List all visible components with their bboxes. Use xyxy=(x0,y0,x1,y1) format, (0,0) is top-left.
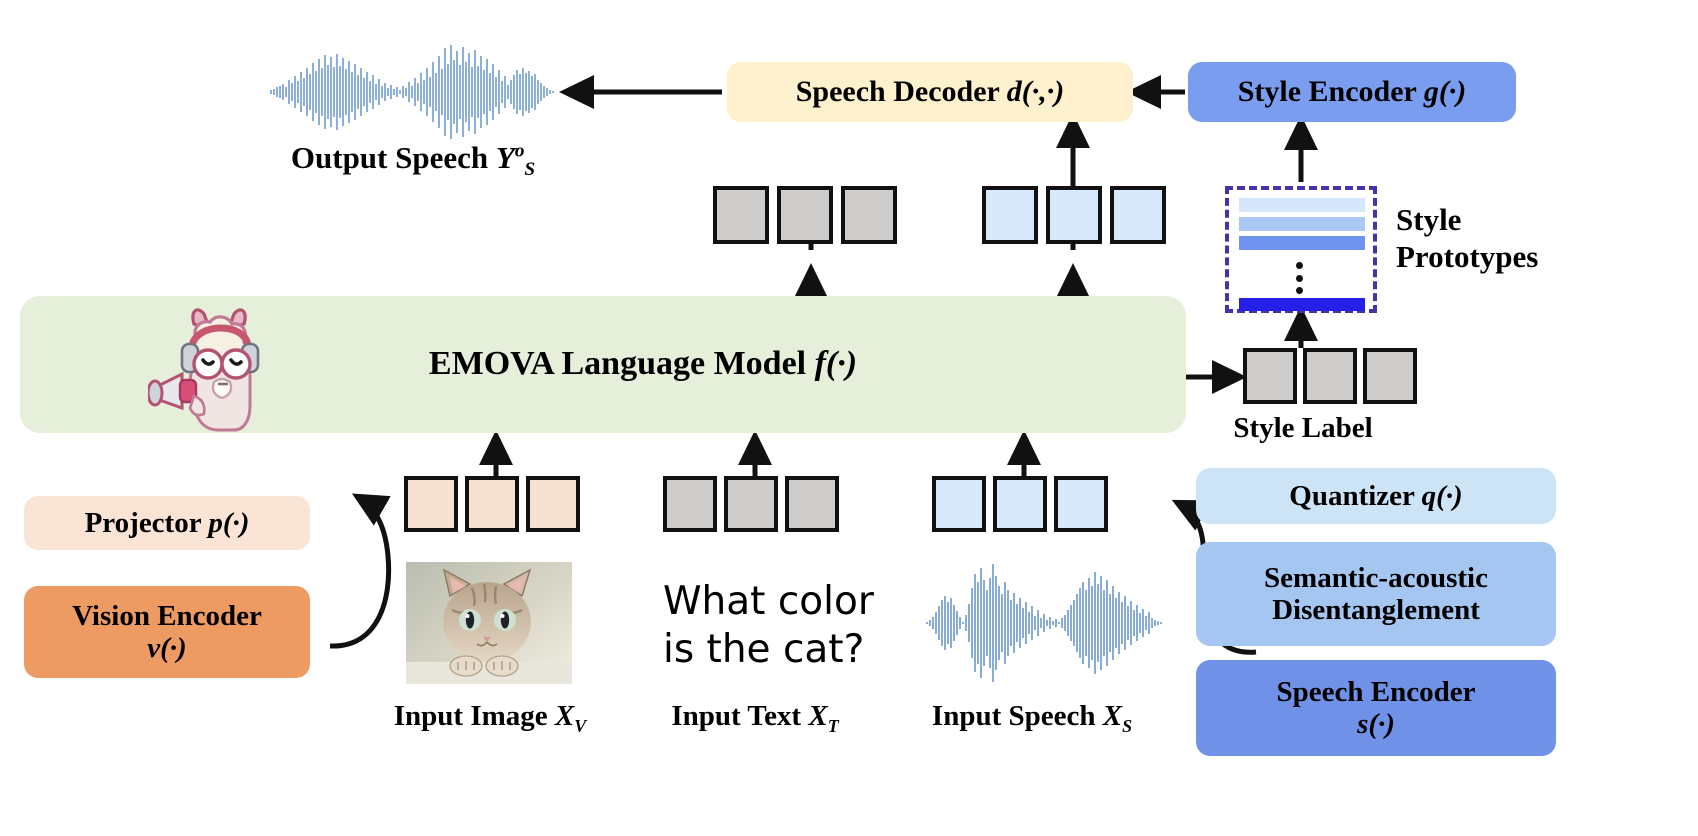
speech-decoder-symbol: d(·,·) xyxy=(1007,75,1064,108)
disentanglement-line-2: Disentanglement xyxy=(1272,594,1480,626)
style-encoder-box[interactable]: Style Encoder g(·) xyxy=(1188,62,1516,122)
quantizer-label: Quantizer q(·) xyxy=(1289,480,1462,512)
speech-decoder-box[interactable]: Speech Decoder d(·,·) xyxy=(727,62,1133,122)
quantizer-symbol: q(·) xyxy=(1422,480,1463,512)
token-square[interactable] xyxy=(785,476,839,532)
question-line-2: is the cat? xyxy=(663,626,913,674)
token-square[interactable] xyxy=(982,186,1038,244)
token-square[interactable] xyxy=(993,476,1047,532)
style-label-tokens[interactable] xyxy=(1243,348,1417,404)
style-prototypes-label: Style Prototypes xyxy=(1396,202,1676,275)
token-square[interactable] xyxy=(713,186,769,244)
style-encoder-label: Style Encoder g(·) xyxy=(1238,75,1467,109)
input-text-tokens[interactable] xyxy=(663,476,839,532)
prototype-bar xyxy=(1239,198,1365,212)
output-speech-label: Output Speech YoS xyxy=(268,140,558,181)
prototype-bar-last xyxy=(1239,298,1365,311)
token-square[interactable] xyxy=(465,476,519,532)
question-line-1: What color xyxy=(663,578,913,626)
vision-encoder-label: Vision Encoder xyxy=(72,600,262,632)
token-square[interactable] xyxy=(1054,476,1108,532)
projector-symbol: p(·) xyxy=(208,507,249,539)
projector-label: Projector p(·) xyxy=(85,507,250,539)
vision-encoder-box[interactable]: Vision Encoder v(·) xyxy=(24,586,310,678)
language-model-symbol: f(·) xyxy=(815,345,857,382)
token-square[interactable] xyxy=(841,186,897,244)
output-text-tokens[interactable] xyxy=(713,186,897,244)
output-speech-tokens[interactable] xyxy=(982,186,1166,244)
input-speech-tokens[interactable] xyxy=(932,476,1108,532)
architecture-diagram: Output Speech YoS Speech Decoder d(·,·) … xyxy=(0,0,1698,836)
token-square[interactable] xyxy=(724,476,778,532)
image-tokens[interactable] xyxy=(404,476,580,532)
speech-encoder-label: Speech Encoder xyxy=(1277,676,1476,708)
projector-box[interactable]: Projector p(·) xyxy=(24,496,310,550)
quantizer-box[interactable]: Quantizer q(·) xyxy=(1196,468,1556,524)
style-encoder-symbol: g(·) xyxy=(1424,75,1466,108)
prototype-bar xyxy=(1239,217,1365,231)
style-label-caption: Style Label xyxy=(1203,412,1403,445)
input-text-question: What color is the cat? xyxy=(663,578,913,673)
token-square[interactable] xyxy=(932,476,986,532)
disentanglement-line-1: Semantic-acoustic xyxy=(1264,562,1488,594)
disentanglement-box[interactable]: Semantic-acoustic Disentanglement xyxy=(1196,542,1556,646)
token-square[interactable] xyxy=(404,476,458,532)
input-speech-waveform xyxy=(925,560,1165,686)
token-square[interactable] xyxy=(663,476,717,532)
speech-decoder-label: Speech Decoder d(·,·) xyxy=(796,75,1065,109)
token-square[interactable] xyxy=(1046,186,1102,244)
vision-encoder-symbol: v(·) xyxy=(147,632,186,664)
emova-language-model-label: EMOVA Language Model f(·) xyxy=(429,345,857,383)
token-square[interactable] xyxy=(1363,348,1417,404)
input-image-caption: Input Image XV xyxy=(379,700,601,737)
prototype-bar xyxy=(1239,236,1365,250)
token-square[interactable] xyxy=(777,186,833,244)
emova-llama-mascot xyxy=(148,304,280,432)
token-square[interactable] xyxy=(1110,186,1166,244)
prototype-ellipsis-icon xyxy=(1295,262,1303,294)
token-square[interactable] xyxy=(1303,348,1357,404)
speech-encoder-symbol: s(·) xyxy=(1357,708,1395,740)
input-speech-caption: Input Speech XS xyxy=(908,700,1156,737)
output-speech-waveform xyxy=(268,42,558,142)
speech-encoder-box[interactable]: Speech Encoder s(·) xyxy=(1196,660,1556,756)
token-square[interactable] xyxy=(1243,348,1297,404)
style-prototypes-box[interactable] xyxy=(1225,186,1377,313)
token-square[interactable] xyxy=(526,476,580,532)
input-text-caption: Input Text XT xyxy=(648,700,862,737)
input-image-cat[interactable] xyxy=(406,562,572,684)
